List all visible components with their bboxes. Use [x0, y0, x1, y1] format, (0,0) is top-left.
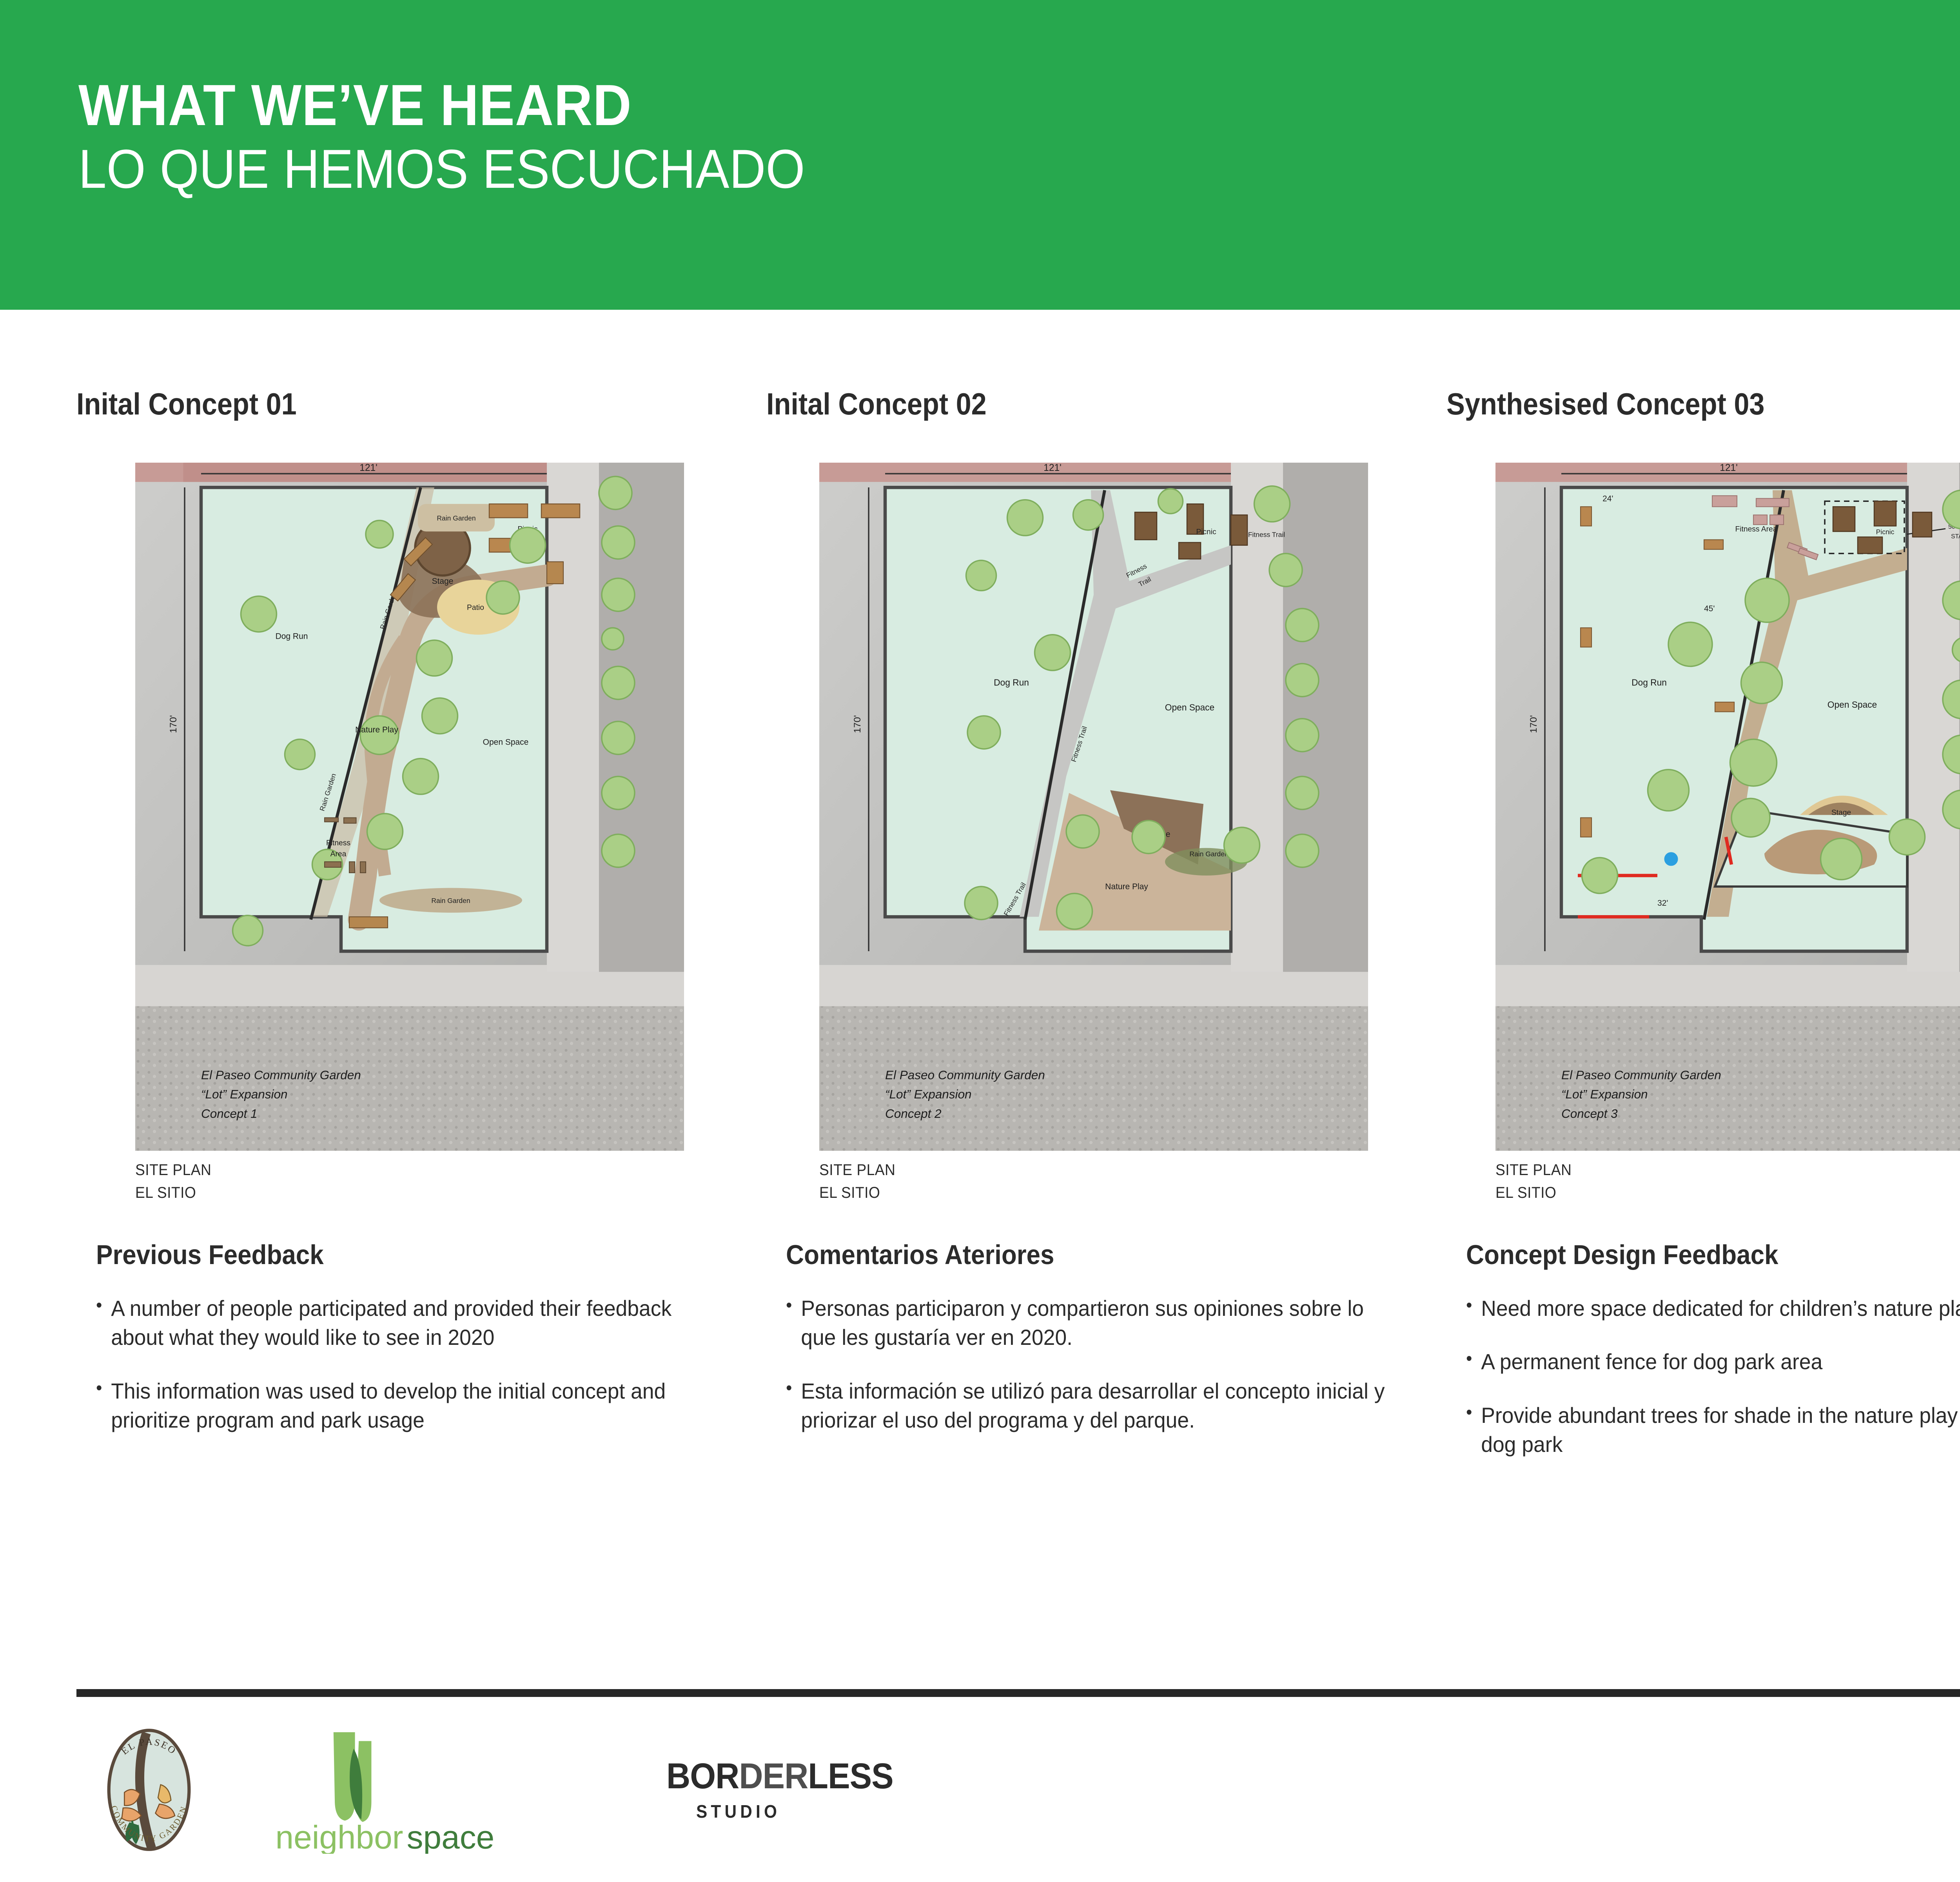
svg-text:32': 32'	[1657, 899, 1668, 908]
plan-caption-en-1: SITE PLAN	[135, 1159, 211, 1181]
plan-caption-2: SITE PLAN EL SITIO	[819, 1159, 895, 1204]
svg-text:“Lot” Expansion: “Lot” Expansion	[201, 1087, 288, 1101]
svg-text:24': 24'	[1602, 494, 1613, 503]
svg-text:170': 170'	[852, 715, 863, 733]
el-paseo-community-garden-logo: EL PASEO COMMUNITY GARDEN	[84, 1725, 214, 1855]
borderless-part-a: BOR	[666, 1756, 739, 1796]
site-plan-image-2: 121' 170' Stage Rain Garden Nature Play	[819, 463, 1368, 1151]
plan-caption-es-1: EL SITIO	[135, 1181, 211, 1204]
svg-text:El Paseo Community Garden: El Paseo Community Garden	[885, 1068, 1045, 1082]
footer-divider	[76, 1689, 1960, 1697]
svg-text:121': 121'	[359, 463, 377, 473]
header-title-block: WHAT WE’VE HEARD LO QUE HEMOS ESCUCHADO	[78, 76, 868, 203]
svg-text:Rain Garden: Rain Garden	[437, 514, 475, 522]
feedback-item: This information was used to develop the…	[96, 1377, 714, 1435]
svg-text:170': 170'	[1528, 715, 1539, 733]
feedback-title-2: Comentarios Ateriores	[786, 1239, 1054, 1270]
concept-title-1: Inital Concept 01	[76, 386, 297, 422]
svg-text:Fitness: Fitness	[326, 839, 350, 847]
svg-text:121': 121'	[1720, 463, 1738, 473]
svg-text:Rain Garden: Rain Garden	[431, 897, 470, 905]
svg-text:STAGE AREA: STAGE AREA	[1951, 533, 1960, 540]
svg-text:Dog Run: Dog Run	[276, 632, 308, 641]
svg-text:Open Space: Open Space	[483, 738, 529, 747]
svg-text:El Paseo Community Garden: El Paseo Community Garden	[201, 1068, 361, 1082]
svg-text:Patio: Patio	[467, 604, 484, 612]
plan-caption-es-2: EL SITIO	[819, 1181, 895, 1204]
feedback-title-1: Previous Feedback	[96, 1239, 324, 1270]
borderless-part-c: LESS	[808, 1756, 893, 1796]
site-plan-drawing-2: 121' 170' Stage Rain Garden Nature Play	[819, 463, 1368, 1151]
borderless-studio-logo: BORDERLESS STUDIO	[666, 1756, 913, 1822]
page-footer: EL PASEO COMMUNITY GARDEN neighbor space…	[0, 1697, 1960, 1882]
svg-text:Concept 1: Concept 1	[201, 1106, 258, 1121]
feedback-item: A number of people participated and prov…	[96, 1294, 714, 1352]
concept-title-3: Synthesised Concept 03	[1446, 386, 1764, 422]
plan-caption-en-2: SITE PLAN	[819, 1159, 895, 1181]
plan-caption-en-3: SITE PLAN	[1495, 1159, 1572, 1181]
svg-text:Stage: Stage	[432, 577, 454, 586]
svg-text:121': 121'	[1044, 463, 1062, 473]
svg-text:Picnic: Picnic	[1876, 528, 1895, 536]
svg-text:Open Space: Open Space	[1828, 699, 1877, 710]
site-plan-image-3: 121' 170' 24' 45' 32' Stage 50' X 4	[1495, 463, 1960, 1151]
svg-text:Picnic: Picnic	[1196, 528, 1216, 536]
page-title: WHAT WE’VE HEARD	[78, 76, 805, 134]
site-plan-image-1: 121' 170' Stage Patio Rain Garden	[135, 463, 684, 1151]
plan-caption-1: SITE PLAN EL SITIO	[135, 1159, 211, 1204]
svg-text:Stage: Stage	[1831, 809, 1851, 817]
svg-text:Dog Run: Dog Run	[1632, 678, 1667, 688]
feedback-item: Provide abundant trees for shade in the …	[1466, 1401, 1960, 1459]
concept-columns: Inital Concept 01	[0, 310, 1960, 1678]
svg-text:Nature Play: Nature Play	[355, 725, 398, 734]
plan-caption-3: SITE PLAN EL SITIO	[1495, 1159, 1572, 1204]
svg-text:170': 170'	[168, 715, 179, 733]
svg-text:“Lot” Expansion: “Lot” Expansion	[1561, 1087, 1648, 1101]
concept-title-2: Inital Concept 02	[766, 386, 987, 422]
svg-text:neighbor: neighbor	[276, 1818, 403, 1854]
svg-text:Concept 3: Concept 3	[1561, 1106, 1618, 1121]
svg-text:Dog Run: Dog Run	[994, 678, 1029, 688]
feedback-list-1: A number of people participated and prov…	[96, 1294, 743, 1459]
borderless-part-b: DER	[739, 1756, 808, 1796]
neighborspace-logo: neighbor space	[267, 1724, 494, 1854]
svg-text:“Lot” Expansion: “Lot” Expansion	[885, 1087, 972, 1101]
plan-caption-es-3: EL SITIO	[1495, 1181, 1572, 1204]
svg-text:Nature Play: Nature Play	[1105, 882, 1148, 891]
feedback-title-3: Concept Design Feedback	[1466, 1239, 1778, 1270]
svg-text:space: space	[407, 1818, 494, 1854]
borderless-wordmark: BORDERLESS	[666, 1756, 893, 1797]
svg-text:Area: Area	[330, 850, 347, 858]
svg-text:Fitness Area: Fitness Area	[1735, 525, 1777, 533]
svg-text:Concept 2: Concept 2	[885, 1106, 942, 1121]
page-subtitle: LO QUE HEMOS ESCUCHADO	[78, 134, 805, 203]
borderless-studio-sub: STUDIO	[696, 1801, 896, 1822]
site-plan-drawing-3: 121' 170' 24' 45' 32' Stage 50' X 4	[1495, 463, 1960, 1151]
svg-text:Rain Garden: Rain Garden	[1189, 850, 1228, 858]
feedback-item: Personas participaron y compartieron sus…	[786, 1294, 1404, 1352]
feedback-list-3: Need more space dedicated for children’s…	[1466, 1294, 1960, 1484]
page-header: WHAT WE’VE HEARD LO QUE HEMOS ESCUCHADO …	[0, 0, 1960, 310]
svg-text:Fitness Trail: Fitness Trail	[1248, 531, 1285, 539]
site-plan-drawing-1: 121' 170' Stage Patio Rain Garden	[135, 463, 684, 1151]
svg-text:45': 45'	[1704, 604, 1715, 613]
feedback-item: A permanent fence for dog park area	[1466, 1347, 1960, 1376]
feedback-list-2: Personas participaron y compartieron sus…	[786, 1294, 1433, 1459]
feedback-item: Need more space dedicated for children’s…	[1466, 1294, 1960, 1323]
svg-text:El Paseo Community Garden: El Paseo Community Garden	[1561, 1068, 1721, 1082]
svg-text:Open Space: Open Space	[1165, 702, 1214, 712]
feedback-item: Esta información se utilizó para desarro…	[786, 1377, 1404, 1435]
